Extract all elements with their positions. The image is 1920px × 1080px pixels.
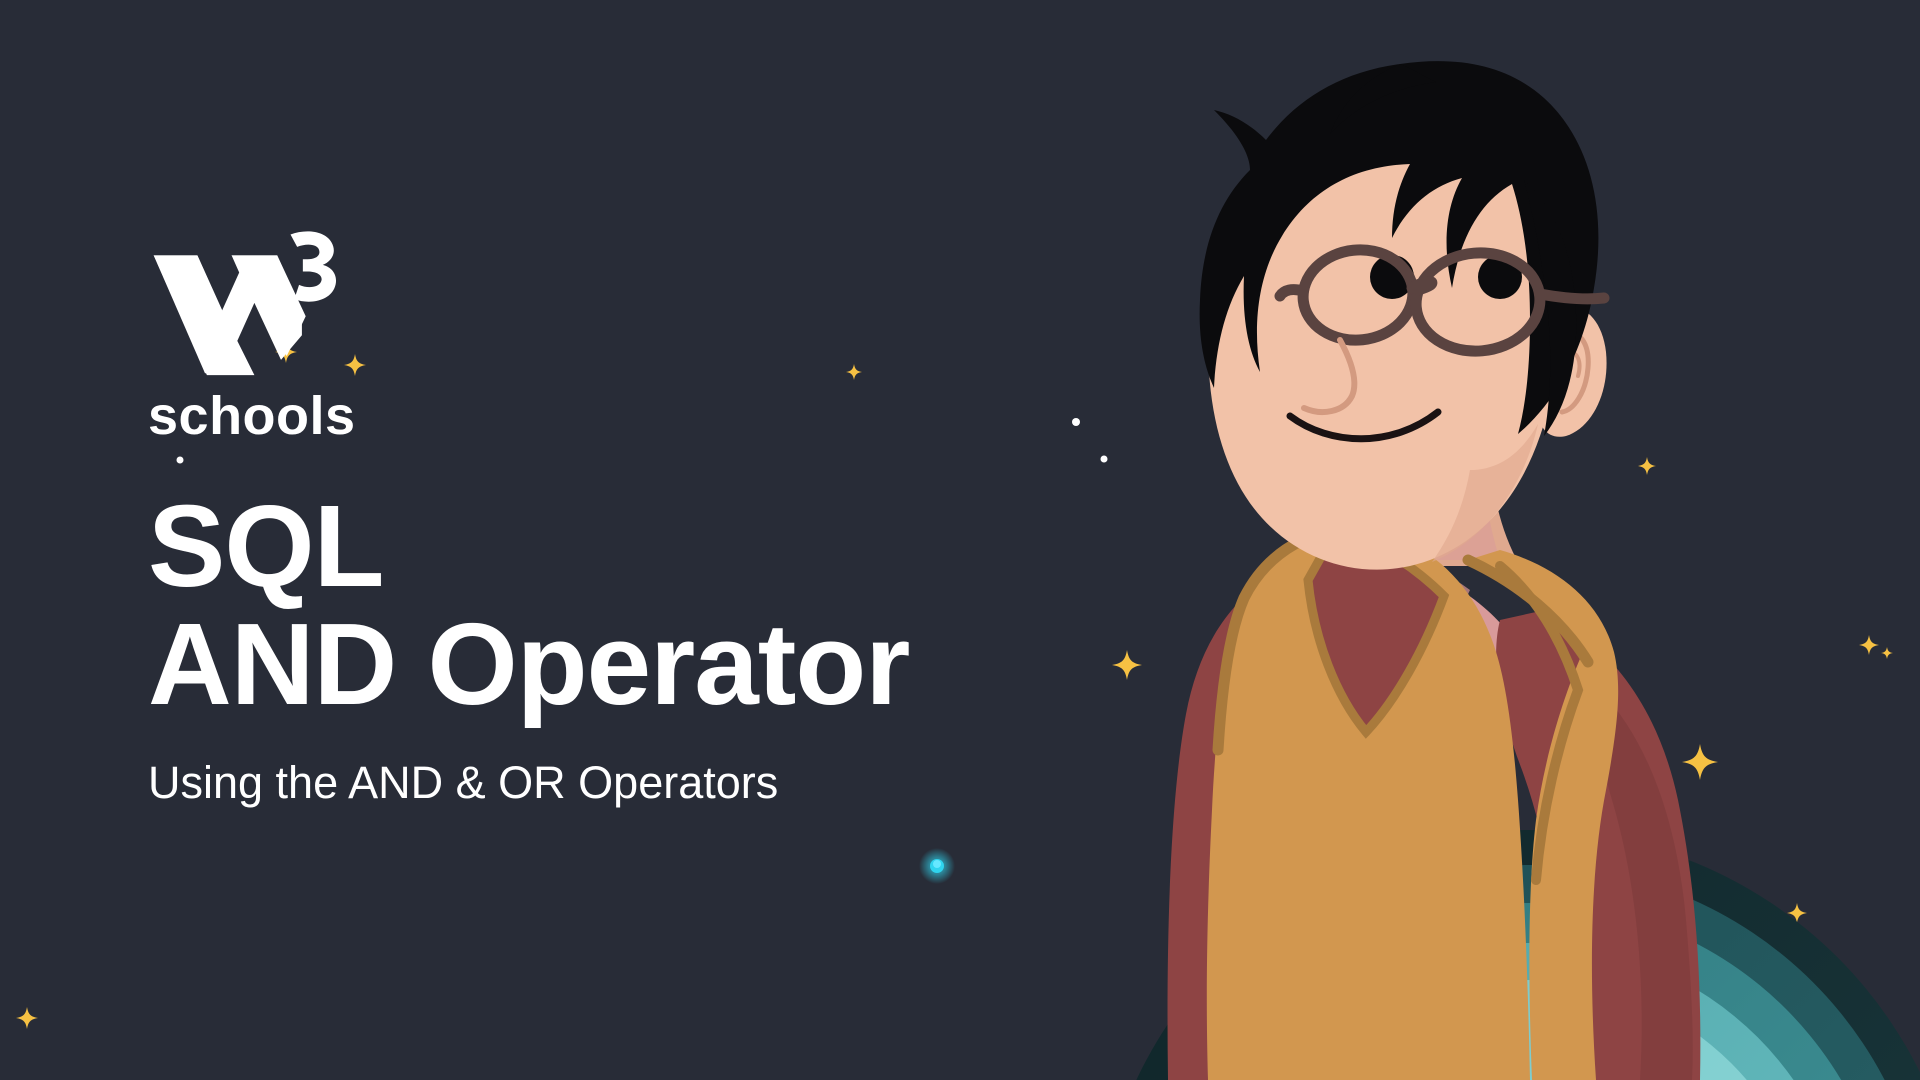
eyes [1370, 255, 1522, 299]
cyan-glow-dot-icon [919, 848, 955, 884]
planet-crater [1462, 954, 1647, 1080]
banner-canvas: schools SQL AND Operator Using the AND &… [0, 0, 1920, 1080]
shirt [1168, 540, 1701, 1080]
head [1200, 61, 1607, 570]
page-title-line-2: AND Operator [148, 605, 1148, 723]
neck [1368, 452, 1520, 566]
brand-sparkle-icon [344, 354, 366, 376]
w3schools-logo [148, 228, 338, 393]
page-title: SQL AND Operator [148, 487, 1148, 724]
glasses [1280, 244, 1604, 356]
page-title-line-1: SQL [148, 487, 1148, 605]
page-subtitle: Using the AND & OR Operators [148, 756, 1148, 810]
hair [1200, 61, 1599, 436]
ear [1536, 306, 1607, 437]
brand-lockup: schools [148, 228, 368, 447]
banner-text-block: schools SQL AND Operator Using the AND &… [148, 228, 1148, 810]
sweater-vest [1207, 530, 1618, 1080]
brand-wordmark: schools [148, 385, 368, 447]
